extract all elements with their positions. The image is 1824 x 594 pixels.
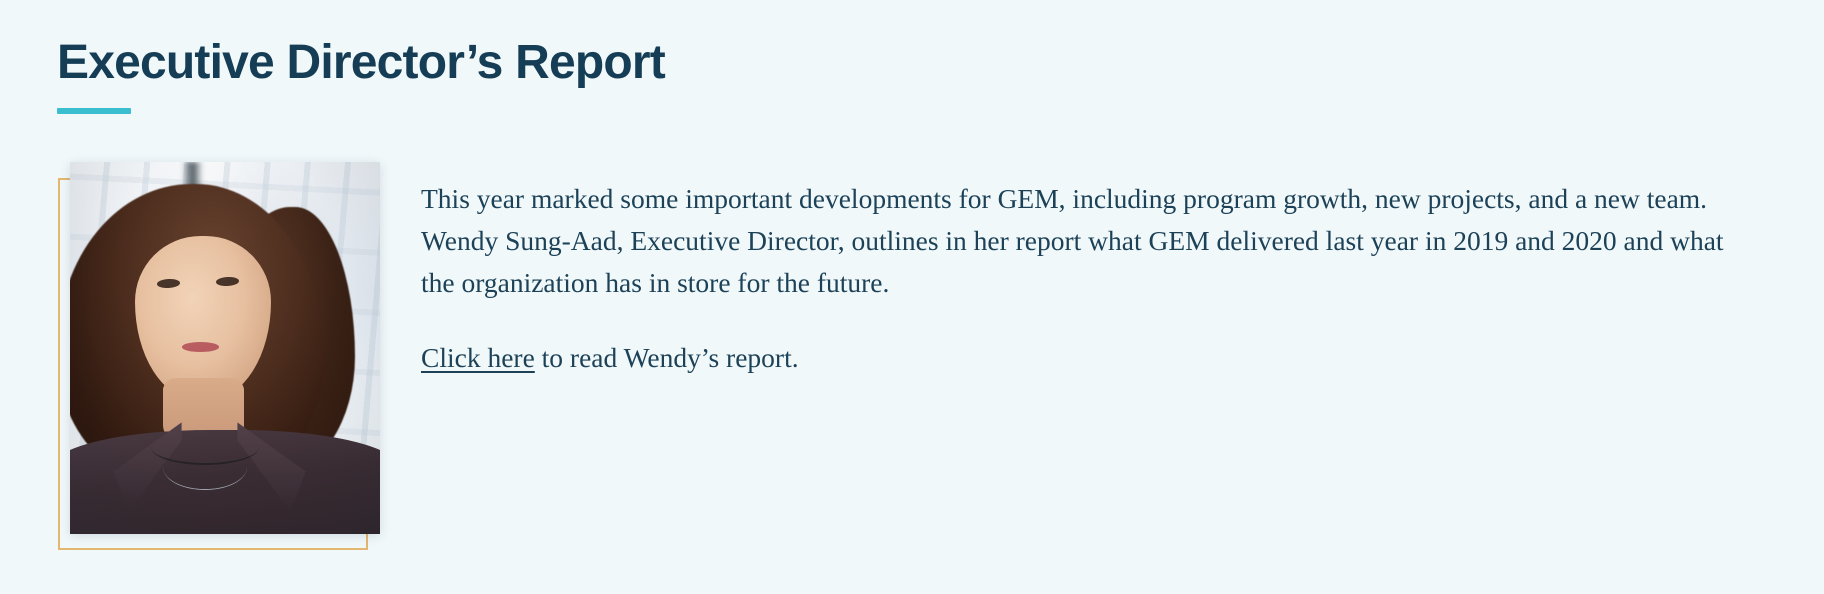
report-paragraph: This year marked some important developm… <box>421 178 1751 303</box>
content-row: This year marked some important developm… <box>0 0 1824 594</box>
executive-director-report-section: Executive Director’s Report <box>0 0 1824 594</box>
photo-vignette <box>70 162 380 534</box>
read-report-trailing-text: to read Wendy’s report. <box>535 342 799 373</box>
report-link-line: Click here to read Wendy’s report. <box>421 337 1751 379</box>
read-report-link[interactable]: Click here <box>421 342 535 373</box>
portrait-figure <box>58 178 368 550</box>
report-text-column: This year marked some important developm… <box>421 178 1751 379</box>
portrait-photo <box>70 162 380 534</box>
